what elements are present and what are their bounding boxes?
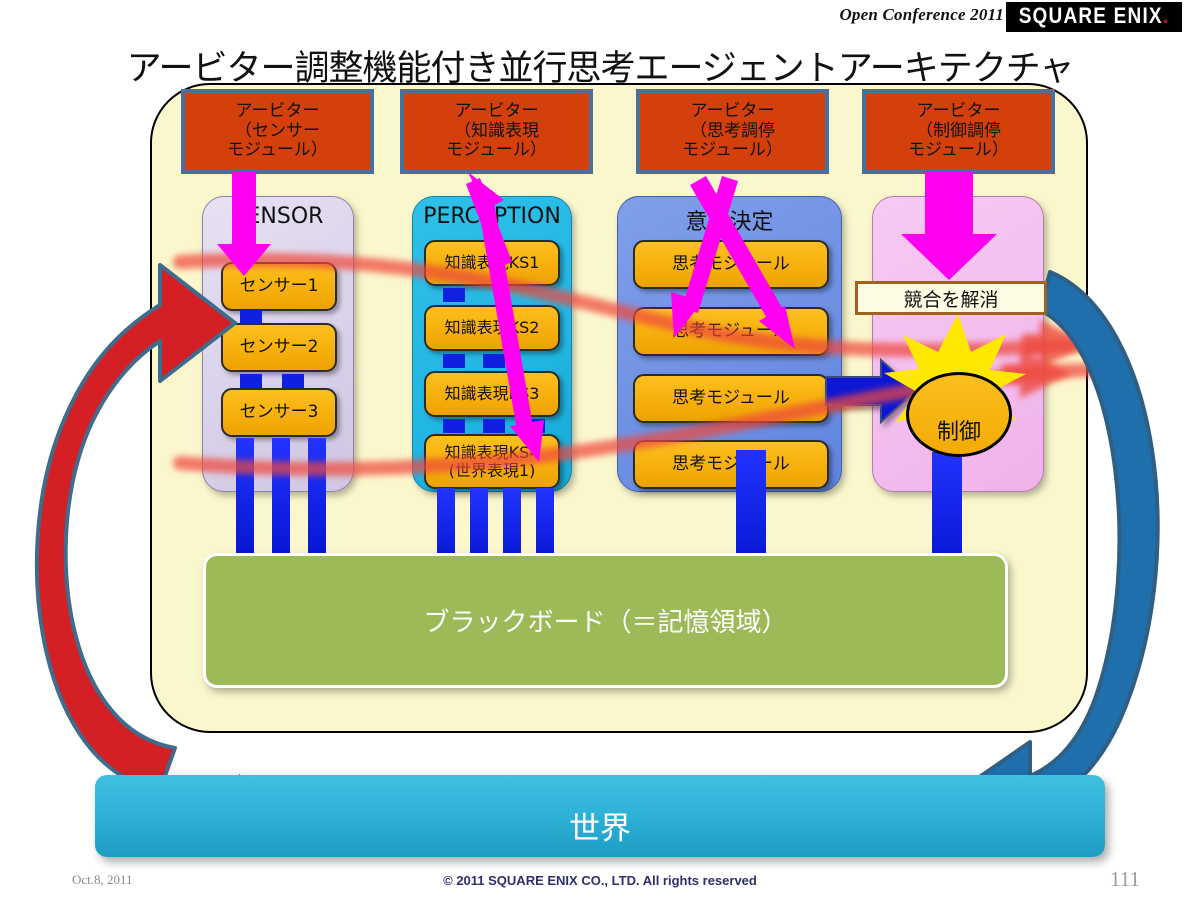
chip-ks-3[interactable]: 知識表現KS3 [424,371,560,417]
panel-title-decision: 意思決定 [618,204,841,236]
chip-label: センサー1 [240,277,319,296]
arbiter-line1: アービター [917,102,1001,122]
chip-ks-4[interactable]: 知識表現KS4 (世界表現1) [424,434,560,489]
arbiter-box-thought[interactable]: アービター （思考調停 モジュール） [636,89,829,174]
slide-root: Open Conference 2011 SQUARE ENIX. アービター調… [0,0,1200,900]
conference-label: Open Conference 2011 [839,5,1004,25]
chip-thought-2[interactable]: 思考モジュール [633,307,829,356]
logo-dot: . [1163,4,1169,29]
chip-label: 知識表現KS3 [445,385,540,403]
panel-title-perception: PERCEPTION [413,204,571,229]
world-label: 世界 [569,803,631,848]
control-circle[interactable]: 制御 [906,372,1012,457]
conflict-resolution-label: 競合を解消 [855,281,1047,315]
arbiter-line3: モジュール） [908,141,1009,161]
blackboard-label: ブラックボード（＝記憶領域） [423,602,787,639]
world-bar: 世界 [95,775,1105,857]
blackboard-area: ブラックボード（＝記憶領域） [203,553,1008,688]
chip-label: 知識表現KS2 [445,319,540,337]
conflict-label-text: 競合を解消 [903,285,998,312]
chip-sensor-2[interactable]: センサー2 [221,323,337,372]
chip-label: 思考モジュール [672,322,790,341]
arbiter-line3: モジュール） [446,141,547,161]
arbiter-line2: （制御調停 [916,122,1001,142]
arbiter-box-sensor[interactable]: アービター （センサー モジュール） [181,89,374,174]
control-circle-label: 制御 [937,414,981,446]
square-enix-logo: SQUARE ENIX. [1006,2,1182,32]
chip-ks-2[interactable]: 知識表現KS2 [424,305,560,351]
chip-label: センサー3 [240,403,319,422]
chip-thought-3[interactable]: 思考モジュール [633,374,829,423]
chip-label: 思考モジュール [672,255,790,274]
arbiter-line3: モジュール） [227,141,328,161]
arbiter-box-control[interactable]: アービター （制御調停 モジュール） [862,89,1055,174]
chip-label: センサー2 [240,338,319,357]
chip-label: 知識表現KS1 [445,254,540,272]
arbiter-line1: アービター [236,102,320,122]
chip-sensor-1[interactable]: センサー1 [221,262,337,311]
chip-label: 知識表現KS4 [445,444,540,462]
chip-thought-4[interactable]: 思考モジュール [633,440,829,489]
arbiter-line2: （思考調停 [690,122,775,142]
chip-label: 思考モジュール [672,455,790,474]
chip-thought-1[interactable]: 思考モジュール [633,240,829,289]
chip-sensor-3[interactable]: センサー3 [221,388,337,437]
arbiter-box-knowledge[interactable]: アービター （知識表現 モジュール） [400,89,593,174]
footer-copyright: © 2011 SQUARE ENIX CO., LTD. All rights … [0,873,1200,888]
arbiter-line1: アービター [691,102,775,122]
panel-title-sensor: SENSOR [203,204,353,229]
arbiter-line1: アービター [455,102,539,122]
logo-text: SQUARE ENIX [1019,4,1163,29]
arbiter-line3: モジュール） [682,141,783,161]
chip-sublabel: (世界表現1) [449,462,536,480]
chip-label: 思考モジュール [672,389,790,408]
arbiter-line2: （知識表現 [454,122,539,142]
arbiter-line2: （センサー [235,122,320,142]
chip-ks-1[interactable]: 知識表現KS1 [424,240,560,286]
footer-page-number: 111 [1110,867,1140,892]
